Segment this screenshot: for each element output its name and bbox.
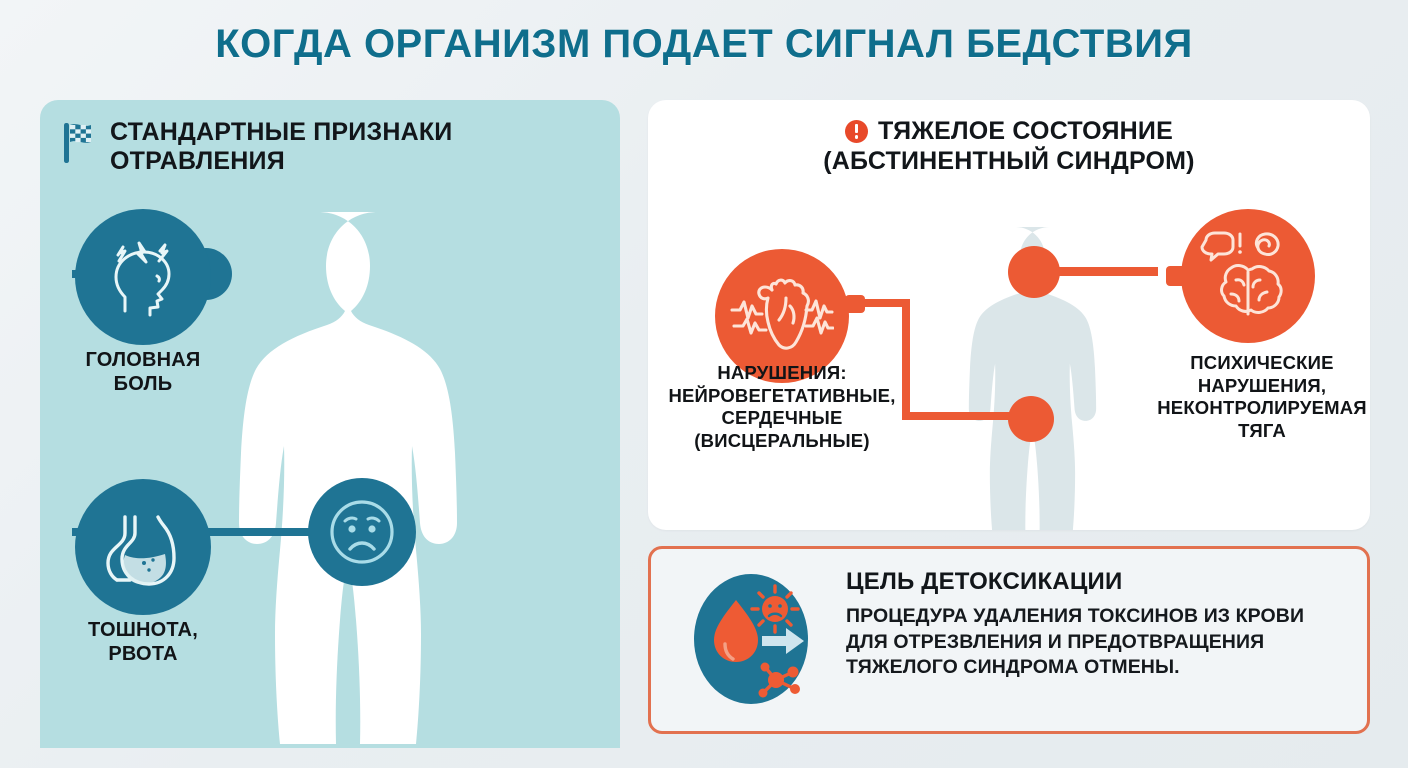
stomach-bubble	[75, 479, 211, 615]
sad-face-icon	[325, 495, 399, 569]
heart-ecg-icon	[730, 270, 834, 362]
left-header-line1: СТАНДАРТНЫЕ ПРИЗНАКИ	[110, 118, 452, 147]
infographic-root: КОГДА ОРГАНИЗМ ПОДАЕТ СИГНАЛ БЕДСТВИЯ	[0, 0, 1408, 768]
sad-face-bubble	[308, 478, 416, 586]
label-nausea-line2: РВОТА	[43, 642, 243, 666]
label-visceral-line4: (ВИСЦЕРАЛЬНЫЕ)	[648, 430, 916, 453]
detox-body-line1: ПРОЦЕДУРА УДАЛЕНИЯ ТОКСИНОВ ИЗ КРОВИ	[846, 604, 1356, 630]
connector-mental	[1058, 267, 1158, 276]
label-nausea-line1: ТОШНОТА,	[43, 618, 243, 642]
blood-drop-detox-icon	[692, 572, 810, 706]
label-headache-line1: ГОЛОВНАЯ	[43, 348, 243, 372]
label-visceral-line2: НЕЙРОВЕГЕТАТИВНЫЕ,	[648, 385, 916, 408]
heart-bubble-nub	[845, 295, 865, 313]
right-header-line2: (АБСТИНЕНТНЫЙ СИНДРОМ)	[648, 146, 1370, 176]
detox-title: ЦЕЛЬ ДЕТОКСИКАЦИИ	[846, 568, 1356, 596]
label-mental-line2: НАРУШЕНИЯ,	[1128, 375, 1396, 398]
body-dot-chest	[1008, 396, 1054, 442]
left-panel-header: СТАНДАРТНЫЕ ПРИЗНАКИ ОТРАВЛЕНИЯ	[62, 118, 542, 176]
label-mental-line4: ТЯГА	[1128, 420, 1396, 443]
headache-head-icon	[97, 231, 189, 323]
label-nausea: ТОШНОТА, РВОТА	[43, 618, 243, 667]
label-mental-line3: НЕКОНТРОЛИРУЕМАЯ	[1128, 397, 1396, 420]
body-silhouette-left	[228, 200, 528, 748]
headache-bubble	[75, 209, 211, 345]
page-title: КОГДА ОРГАНИЗМ ПОДАЕТ СИГНАЛ БЕДСТВИЯ	[0, 22, 1408, 67]
stomach-icon	[95, 499, 191, 595]
detox-text-block: ЦЕЛЬ ДЕТОКСИКАЦИИ ПРОЦЕДУРА УДАЛЕНИЯ ТОК…	[846, 568, 1356, 681]
detox-body: ПРОЦЕДУРА УДАЛЕНИЯ ТОКСИНОВ ИЗ КРОВИ ДЛЯ…	[846, 604, 1356, 681]
connector-visceral-horizontal-bottom	[902, 412, 1014, 420]
left-header-line2: ОТРАВЛЕНИЯ	[110, 147, 452, 176]
label-visceral-line1: НАРУШЕНИЯ:	[648, 362, 916, 385]
right-panel-header: ТЯЖЕЛОЕ СОСТОЯНИЕ (АБСТИНЕНТНЫЙ СИНДРОМ)	[648, 116, 1370, 176]
label-visceral: НАРУШЕНИЯ: НЕЙРОВЕГЕТАТИВНЫЕ, СЕРДЕЧНЫЕ …	[648, 362, 916, 452]
warning-exclamation-icon	[845, 120, 868, 143]
body-dot-head-right	[1008, 246, 1060, 298]
right-header-line1: ТЯЖЕЛОЕ СОСТОЯНИЕ	[878, 116, 1173, 146]
brain-bubble	[1181, 209, 1315, 343]
label-mental-line1: ПСИХИЧЕСКИЕ	[1128, 352, 1396, 375]
brain-thoughts-icon	[1198, 228, 1298, 324]
detox-body-line3: ТЯЖЕЛОГО СИНДРОМА ОТМЕНЫ.	[846, 655, 1356, 681]
label-headache: ГОЛОВНАЯ БОЛЬ	[43, 348, 243, 397]
checkered-flag-icon	[62, 121, 96, 165]
label-headache-line2: БОЛЬ	[43, 372, 243, 396]
detox-body-line2: ДЛЯ ОТРЕЗВЛЕНИЯ И ПРЕДОТВРАЩЕНИЯ	[846, 630, 1356, 656]
label-visceral-line3: СЕРДЕЧНЫЕ	[648, 407, 916, 430]
brain-bubble-nub	[1166, 266, 1186, 286]
label-mental: ПСИХИЧЕСКИЕ НАРУШЕНИЯ, НЕКОНТРОЛИРУЕМАЯ …	[1128, 352, 1396, 442]
